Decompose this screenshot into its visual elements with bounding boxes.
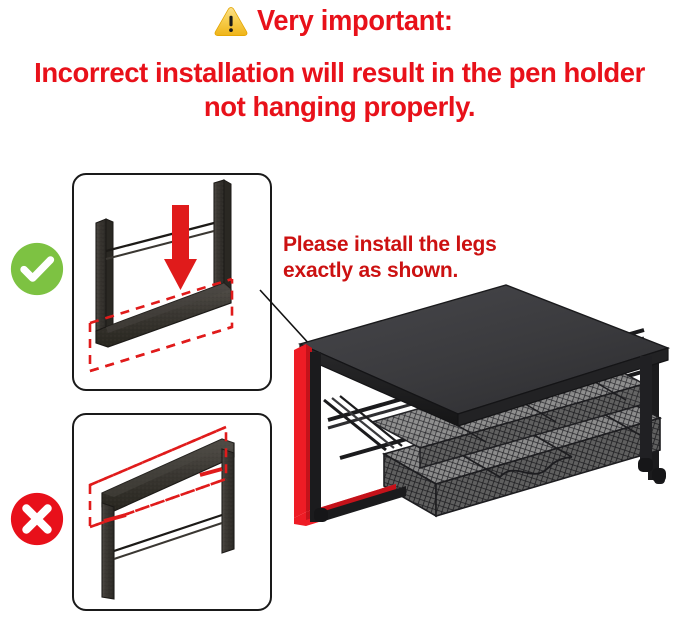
rear-rail [106,223,214,259]
callout-line1: Please install the legs [283,233,497,256]
correct-leg-diagram [74,175,270,389]
right-leg [222,449,234,553]
panel-incorrect-installation [72,413,272,611]
warning-triangle-icon [214,5,248,37]
left-leg [96,219,113,331]
bottom-crossbar [96,283,231,347]
down-arrow-icon [164,205,197,290]
warning-body: Incorrect installation will result in th… [0,56,679,124]
warning-header: Very important: Incorrect installation w… [0,0,679,140]
warning-body-line1: Incorrect installation will result in th… [34,57,645,88]
panel-correct-installation [72,173,272,391]
incorrect-leg-diagram [74,415,270,609]
check-circle-icon [8,240,66,298]
headline-row: Very important: [0,5,679,37]
page-title: Very important: [257,7,453,36]
warning-body-line2: not hanging properly. [0,90,679,124]
x-circle-icon [8,490,66,548]
lower-rail [114,515,222,559]
front-right-leg [638,356,653,472]
rear-right-foot [652,468,666,482]
product-illustration-desk-organizer [288,272,679,548]
